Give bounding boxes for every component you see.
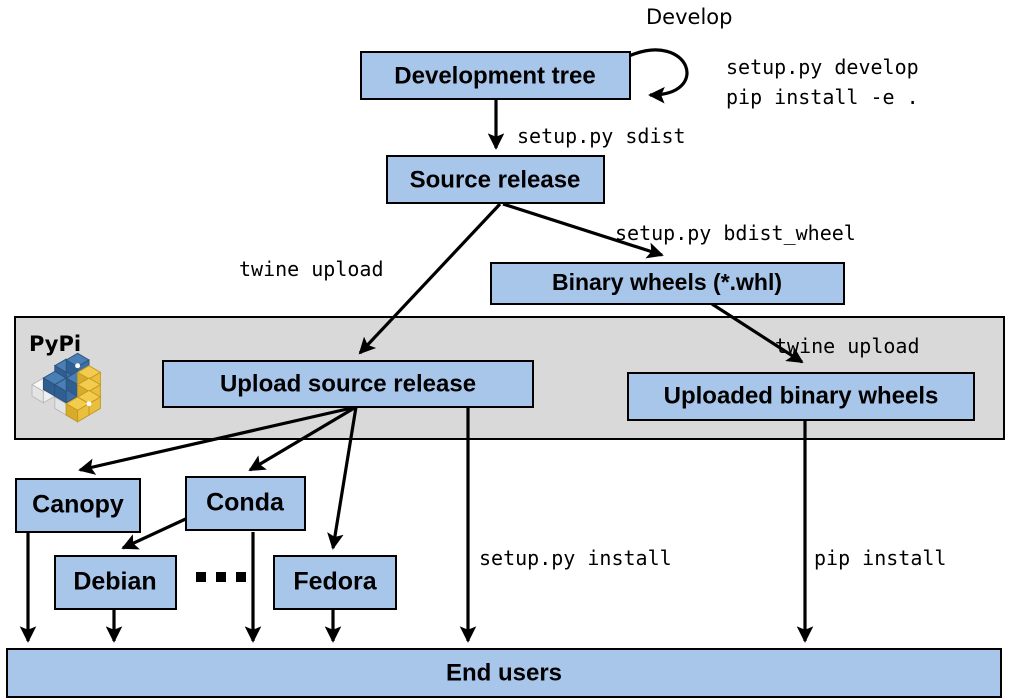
node-source-release-label: Source release <box>410 166 581 193</box>
packaging-flow-diagram: PyPi <box>0 0 1009 698</box>
node-end-users-label: End users <box>446 659 562 686</box>
node-development-tree-label: Development tree <box>394 62 595 89</box>
node-binary-wheels[interactable]: Binary wheels (*.whl) <box>491 263 844 304</box>
node-end-users[interactable]: End users <box>7 649 1001 697</box>
edge-label-setup-py-develop: setup.py develop <box>726 55 919 79</box>
node-fedora[interactable]: Fedora <box>274 556 396 609</box>
edge-label-setup-py-bdist-wheel: setup.py bdist_wheel <box>615 221 856 245</box>
edge-develop-selfloop <box>629 50 687 95</box>
node-development-tree[interactable]: Development tree <box>361 52 630 99</box>
node-debian[interactable]: Debian <box>55 556 176 609</box>
edge-label-develop: Develop <box>646 5 732 29</box>
node-canopy[interactable]: Canopy <box>16 479 140 532</box>
node-canopy-label: Canopy <box>32 491 124 519</box>
node-debian-label: Debian <box>73 568 156 596</box>
node-source-release[interactable]: Source release <box>387 156 604 203</box>
node-conda-label: Conda <box>206 489 285 517</box>
node-uploaded-binary-wheels[interactable]: Uploaded binary wheels <box>628 373 974 420</box>
node-binary-wheels-label: Binary wheels (*.whl) <box>552 269 782 295</box>
edge-label-pip-install-editable: pip install -e . <box>726 85 919 109</box>
ellipsis-dots <box>196 572 246 582</box>
node-upload-source-release[interactable]: Upload source release <box>163 361 533 407</box>
node-fedora-label: Fedora <box>293 568 377 596</box>
node-upload-source-release-label: Upload source release <box>220 370 476 397</box>
edge-label-setup-py-sdist: setup.py sdist <box>517 124 686 148</box>
node-uploaded-binary-wheels-label: Uploaded binary wheels <box>664 382 939 409</box>
edge-label-twine-upload-wheels: twine upload <box>775 334 920 358</box>
pypi-group-label: PyPi <box>29 332 81 356</box>
edge-label-pip-install: pip install <box>814 546 946 570</box>
edge-label-setup-py-install: setup.py install <box>479 546 672 570</box>
diagram-canvas: PyPi <box>0 0 1009 698</box>
edge-label-twine-upload-source: twine upload <box>239 257 384 281</box>
node-conda[interactable]: Conda <box>186 477 305 530</box>
